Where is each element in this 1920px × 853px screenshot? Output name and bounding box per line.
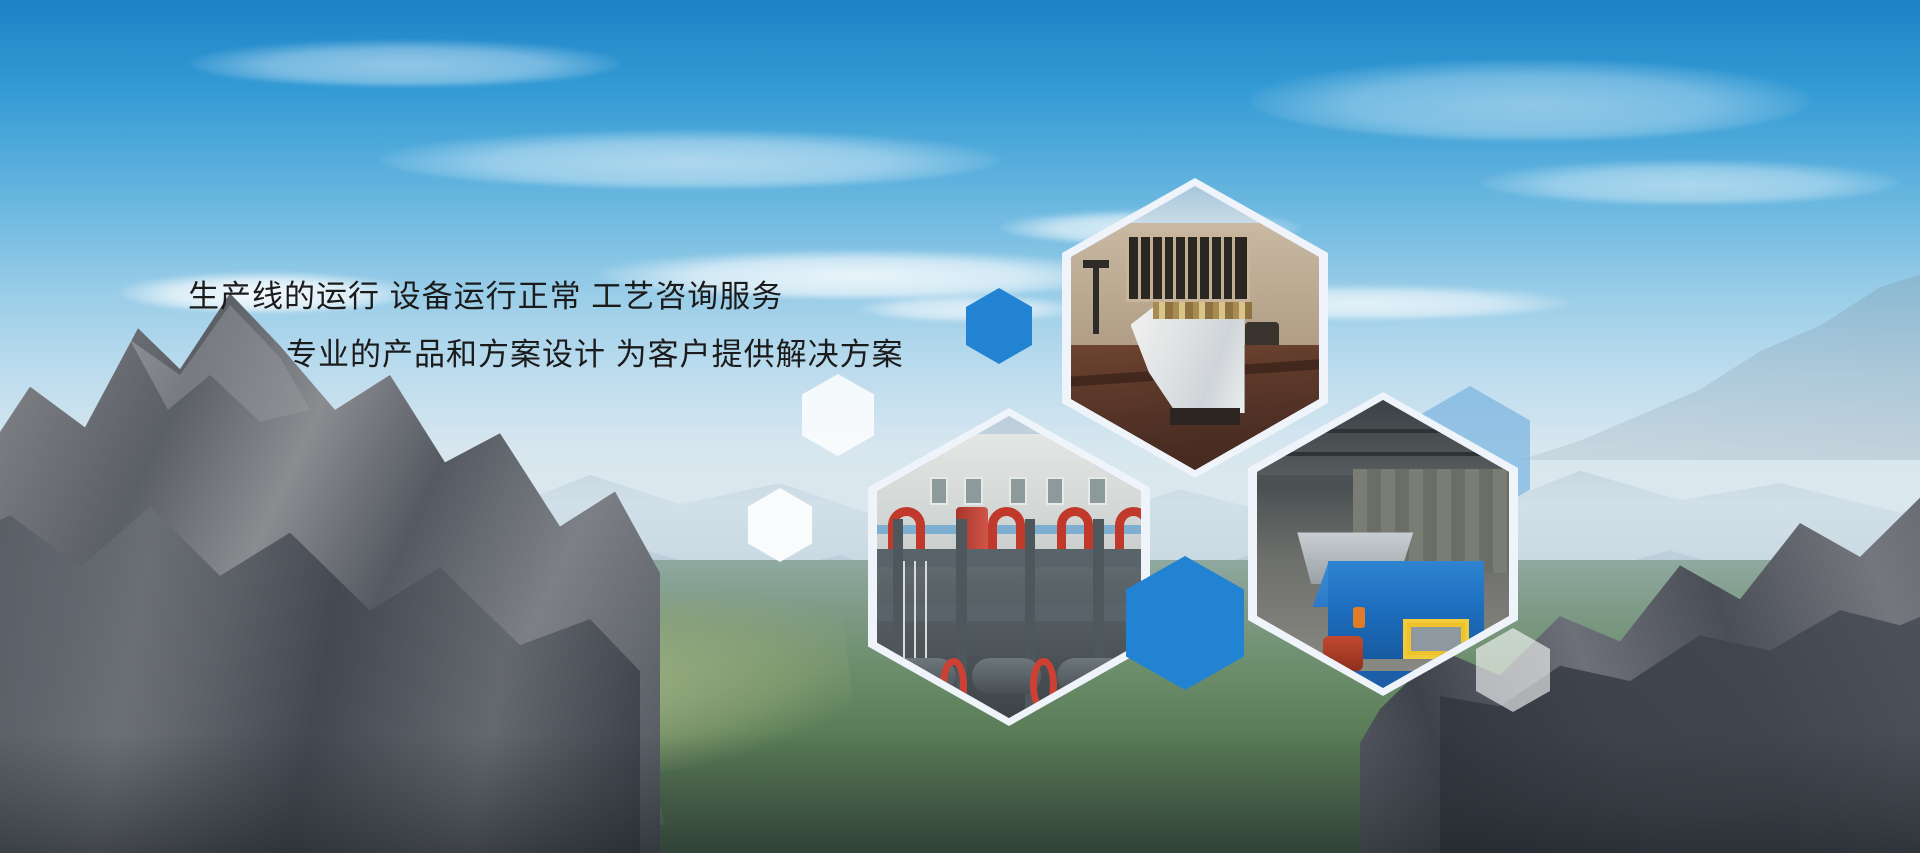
hex-decor-blue-upper [966, 288, 1032, 364]
hex-decor-white-upper [802, 374, 874, 456]
headline-line-1: 生产线的运行 设备运行正常 工艺咨询服务 [188, 268, 948, 326]
bottom-vignette [0, 733, 1920, 853]
hex-decor-white-lower [748, 488, 812, 562]
hex-decor-blue-lower [1126, 556, 1244, 690]
cloud [380, 130, 1000, 188]
banner-headline: 生产线的运行 设备运行正常 工艺咨询服务 专业的产品和方案设计 为客户提供解决方… [188, 268, 948, 384]
hex-decor-white-corner [1476, 628, 1550, 712]
cloud [1250, 60, 1810, 140]
cloud [190, 40, 620, 86]
hero-banner: 生产线的运行 设备运行正常 工艺咨询服务 专业的产品和方案设计 为客户提供解决方… [0, 0, 1920, 853]
cloud [1480, 160, 1900, 204]
hex-photo-grey-machinery[interactable] [868, 408, 1150, 726]
